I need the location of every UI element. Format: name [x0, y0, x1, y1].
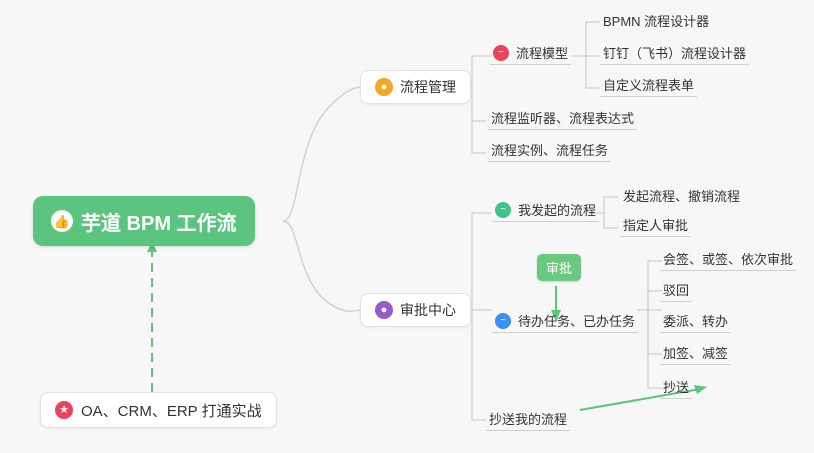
- topic-add-remove-sign[interactable]: 加签、减签: [660, 344, 731, 365]
- topic-label: 会签、或签、依次审批: [663, 249, 793, 268]
- topic-label: 委派、转办: [663, 311, 728, 330]
- topic-countersign[interactable]: 会签、或签、依次审批: [660, 250, 796, 271]
- root-node[interactable]: 👍 芋道 BPM 工作流: [33, 196, 255, 246]
- callout-approval[interactable]: 审批: [537, 254, 581, 281]
- minus-circle-icon: −: [495, 202, 511, 218]
- branch-label: 审批中心: [400, 300, 456, 320]
- topic-instance-task[interactable]: 流程实例、流程任务: [488, 141, 611, 162]
- topic-dingtalk-designer[interactable]: 钉钉（飞书）流程设计器: [600, 44, 749, 65]
- minus-circle-icon: −: [495, 313, 511, 329]
- topic-process-model[interactable]: − 流程模型: [490, 44, 571, 65]
- topic-delegate-transfer[interactable]: 委派、转办: [660, 312, 731, 333]
- thumbs-up-icon: 👍: [51, 210, 73, 232]
- topic-reject[interactable]: 驳回: [660, 281, 692, 302]
- bottom-note[interactable]: ★ OA、CRM、ERP 打通实战: [40, 392, 277, 428]
- topic-label: 驳回: [663, 280, 689, 299]
- root-label: 芋道 BPM 工作流: [81, 207, 237, 236]
- topic-label: 流程实例、流程任务: [491, 140, 608, 159]
- topic-bpmn-designer[interactable]: BPMN 流程设计器: [600, 11, 712, 32]
- topic-label: 指定人审批: [623, 215, 688, 234]
- topic-label: 钉钉（飞书）流程设计器: [603, 43, 746, 62]
- topic-cc-to-me[interactable]: 抄送我的流程: [486, 410, 570, 431]
- topic-label: 发起流程、撤销流程: [623, 186, 740, 205]
- topic-my-started-process[interactable]: − 我发起的流程: [492, 201, 599, 222]
- branch-label: 流程管理: [400, 77, 456, 97]
- topic-start-cancel-process[interactable]: 发起流程、撤销流程: [620, 186, 743, 207]
- location-pin-icon: ●: [375, 78, 393, 96]
- topic-label: 待办任务、已办任务: [518, 311, 635, 330]
- topic-label: 自定义流程表单: [603, 75, 694, 94]
- topic-label: 流程监听器、流程表达式: [491, 108, 634, 127]
- topic-listener-expression[interactable]: 流程监听器、流程表达式: [488, 109, 637, 130]
- topic-custom-form[interactable]: 自定义流程表单: [600, 76, 697, 97]
- branch-approval-center[interactable]: ● 审批中心: [360, 293, 471, 327]
- branch-process-management[interactable]: ● 流程管理: [360, 70, 471, 104]
- topic-label: 加签、减签: [663, 343, 728, 362]
- topic-todo-done-tasks[interactable]: − 待办任务、已办任务: [492, 312, 638, 333]
- minus-circle-icon: −: [493, 45, 509, 61]
- chat-bubble-icon: ●: [375, 301, 393, 319]
- topic-cc[interactable]: 抄送: [660, 378, 692, 399]
- mindmap-canvas: 👍 芋道 BPM 工作流 ● 流程管理 − 流程模型 BPMN 流程设计器 钉钉…: [0, 0, 814, 453]
- bottom-note-label: OA、CRM、ERP 打通实战: [81, 400, 262, 421]
- topic-label: 抄送: [663, 377, 689, 396]
- topic-label: 流程模型: [516, 43, 568, 62]
- topic-label: 抄送我的流程: [489, 409, 567, 428]
- topic-label: 我发起的流程: [518, 200, 596, 219]
- star-circle-icon: ★: [55, 401, 73, 419]
- topic-label: BPMN 流程设计器: [603, 11, 709, 30]
- callout-label: 审批: [546, 261, 572, 276]
- topic-assign-approver[interactable]: 指定人审批: [620, 216, 691, 237]
